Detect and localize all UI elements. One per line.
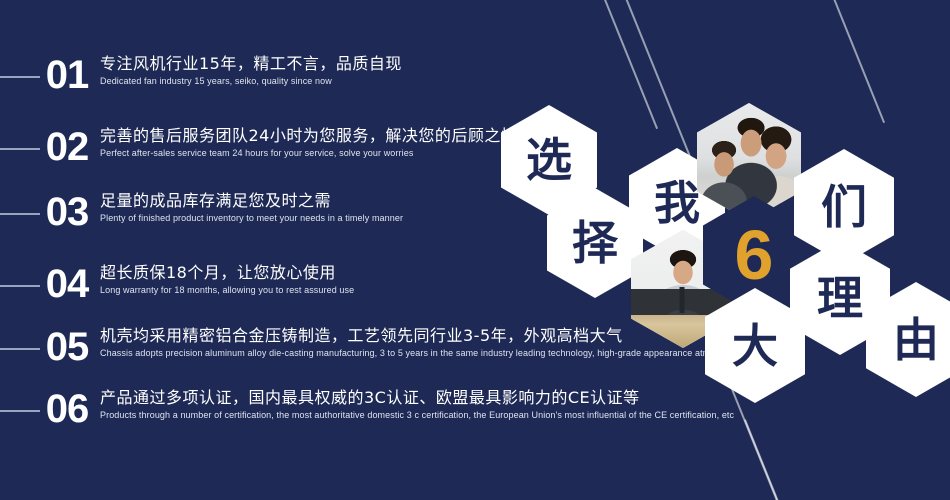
reason-title-cn: 足量的成品库存满足您及时之需 (100, 191, 403, 211)
reason-title-en: Perfect after-sales service team 24 hour… (100, 147, 517, 159)
reason-item: 02 完善的售后服务团队24小时为您服务，解决您的后顾之忧 Perfect af… (0, 126, 517, 174)
banner-root: 01 专注风机行业15年，精工不言，品质自现 Dedicated fan ind… (0, 0, 950, 500)
reason-list: 01 专注风机行业15年，精工不言，品质自现 Dedicated fan ind… (0, 0, 720, 500)
hex-men: 们 (794, 149, 894, 264)
hex-glyph: 理 (817, 275, 863, 321)
reason-text-group: 足量的成品库存满足您及时之需 Plenty of finished produc… (100, 191, 403, 224)
reason-title-cn: 机壳均采用精密铝合金压铸制造，工艺领先同行业3-5年，外观高档大气 (100, 326, 744, 346)
reason-dash-icon (0, 285, 40, 287)
reason-number: 05 (40, 327, 94, 367)
reason-text-group: 超长质保18个月，让您放心使用 Long warranty for 18 mon… (100, 263, 354, 296)
reason-text-group: 完善的售后服务团队24小时为您服务，解决您的后顾之忧 Perfect after… (100, 126, 517, 159)
reason-title-en: Dedicated fan industry 15 years, seiko, … (100, 75, 402, 87)
reason-title-cn: 产品通过多项认证，国内最具权威的3C认证、欧盟最具影响力的CE认证等 (100, 388, 734, 408)
reason-number: 02 (40, 127, 94, 167)
reason-dash-icon (0, 348, 40, 350)
reason-text-group: 专注风机行业15年，精工不言，品质自现 Dedicated fan indust… (100, 54, 402, 87)
reason-title-cn: 超长质保18个月，让您放心使用 (100, 263, 354, 283)
hex-li: 理 (790, 240, 890, 355)
reason-title-cn: 专注风机行业15年，精工不言，品质自现 (100, 54, 402, 74)
reason-item: 01 专注风机行业15年，精工不言，品质自现 Dedicated fan ind… (0, 54, 402, 102)
hex-you: 由 (866, 282, 950, 397)
reason-text-group: 产品通过多项认证，国内最具权威的3C认证、欧盟最具影响力的CE认证等 Produ… (100, 388, 734, 421)
reason-title-en: Long warranty for 18 months, allowing yo… (100, 284, 354, 296)
reason-item: 04 超长质保18个月，让您放心使用 Long warranty for 18 … (0, 263, 354, 311)
reason-number: 04 (40, 264, 94, 304)
hex-glyph: 由 (893, 317, 939, 363)
reason-title-en: Chassis adopts precision aluminum alloy … (100, 347, 744, 359)
diagonal-line-bottom-2 (744, 419, 787, 500)
hex-glyph: 6 (735, 220, 774, 290)
reason-title-cn: 完善的售后服务团队24小时为您服务，解决您的后顾之忧 (100, 126, 517, 146)
reason-number: 06 (40, 389, 94, 429)
reason-dash-icon (0, 148, 40, 150)
reason-number: 01 (40, 55, 94, 95)
reason-title-en: Products through a number of certificati… (100, 409, 734, 421)
reason-text-group: 机壳均采用精密铝合金压铸制造，工艺领先同行业3-5年，外观高档大气 Chassi… (100, 326, 744, 359)
reason-number: 03 (40, 192, 94, 232)
reason-dash-icon (0, 76, 40, 78)
reason-item: 03 足量的成品库存满足您及时之需 Plenty of finished pro… (0, 191, 403, 239)
reason-dash-icon (0, 213, 40, 215)
hex-glyph: 们 (821, 184, 867, 230)
diagonal-line-top-3 (827, 0, 885, 123)
reason-item: 05 机壳均采用精密铝合金压铸制造，工艺领先同行业3-5年，外观高档大气 Cha… (0, 326, 744, 374)
reason-dash-icon (0, 410, 40, 412)
reason-title-en: Plenty of finished product inventory to … (100, 212, 403, 224)
reason-item: 06 产品通过多项认证，国内最具权威的3C认证、欧盟最具影响力的CE认证等 Pr… (0, 388, 734, 436)
